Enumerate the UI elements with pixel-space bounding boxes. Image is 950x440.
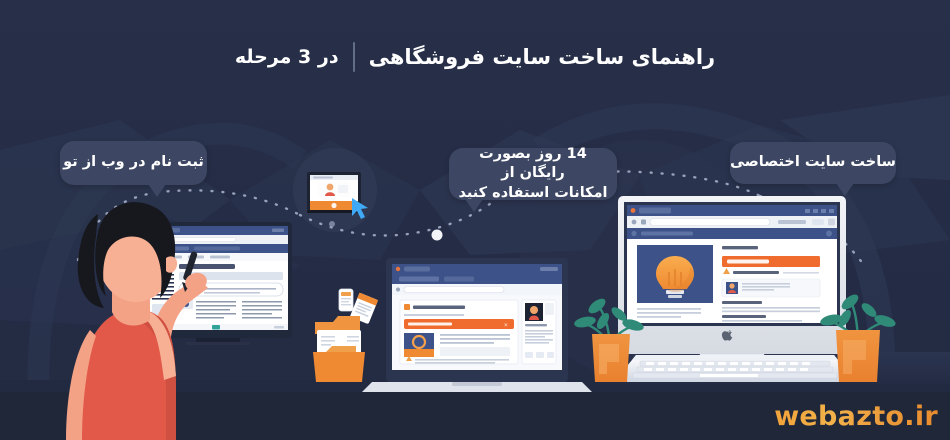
callout-step-2-label: 14 روز بصورت رایگان از امکانات استفاده ک… <box>457 145 609 204</box>
lightbulb-illustration <box>637 245 713 303</box>
callout-step-2-line1: 14 روز بصورت رایگان از <box>479 146 587 182</box>
callout-step-3[interactable]: ساخت سایت اختصاصی <box>730 142 896 184</box>
site-watermark: webazto.ir <box>774 401 938 432</box>
callout-step-1[interactable]: ثبت نام در وب از تو <box>60 141 207 185</box>
callout-step-1-label: ثبت نام در وب از تو <box>63 153 204 173</box>
callout-step-2[interactable]: 14 روز بصورت رایگان از امکانات استفاده ک… <box>449 148 617 200</box>
illustration-banner: × <box>0 0 950 440</box>
apple-keyboard <box>614 355 856 382</box>
callout-tail <box>836 183 854 196</box>
imac-desktop <box>618 196 846 354</box>
callout-tail <box>465 199 483 212</box>
scene-right-imac <box>0 0 950 440</box>
callout-tail <box>148 184 166 197</box>
callout-step-3-label: ساخت سایت اختصاصی <box>730 153 896 173</box>
